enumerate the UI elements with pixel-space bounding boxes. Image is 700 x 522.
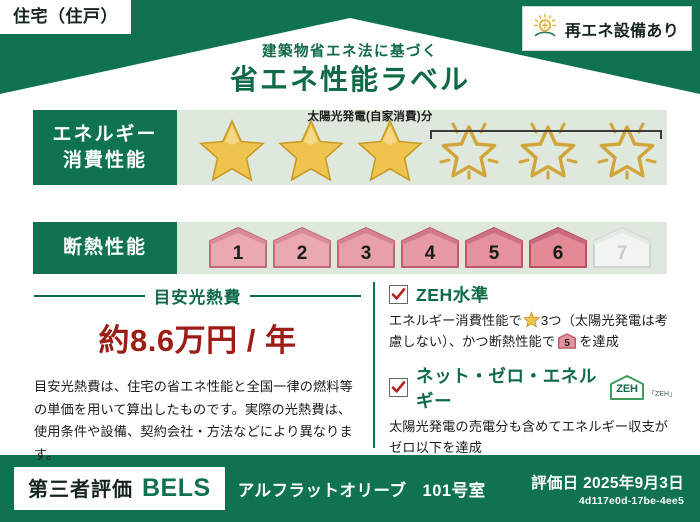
utility-cost-note: 目安光熱費は、住宅の省エネ性能と全国一律の燃料等の単価を用いて算出したものです。… — [34, 376, 361, 467]
insulation-performance-row: 断熱性能 1 2 — [33, 222, 667, 274]
inline-star-icon — [523, 311, 540, 328]
star-filled-1 — [195, 115, 269, 181]
page-title: 省エネ性能ラベル — [0, 64, 700, 96]
insulation-performance-label: 断熱性能 — [33, 222, 177, 274]
net-zero-title: ネット・ゼロ・エネルギー — [416, 363, 597, 413]
utility-cost-column: 目安光熱費 約8.6万円 / 年 目安光熱費は、住宅の省エネ性能と全国一律の燃料… — [18, 282, 373, 448]
inline-house-5-icon: 5 — [557, 333, 577, 349]
evaluation-id: 4d117e0d-17be-4ee5 — [531, 495, 684, 507]
renewable-badge-label: 再エネ設備あり — [565, 17, 679, 41]
checkbox-checked-icon — [389, 285, 408, 304]
house-level-5: 5 — [463, 226, 525, 270]
star-filled-3 — [353, 115, 427, 181]
house-level-1: 1 — [207, 226, 269, 270]
net-zero-description: 太陽光発電の売電分も含めてエネルギー収支がゼロ以下を達成 — [389, 416, 676, 459]
sun-icon — [532, 13, 558, 44]
label-header: 建築物省エネ法に基づく 省エネ性能ラベル — [0, 44, 700, 97]
house-level-6: 6 — [527, 226, 589, 270]
star-filled-2 — [274, 115, 348, 181]
rule-left — [34, 295, 145, 297]
bels-logo-text: BELS — [142, 474, 211, 503]
building-name: アルフラットオリーブ — [238, 477, 407, 501]
utility-cost-heading: 目安光熱費 — [34, 284, 361, 308]
third-party-label: 第三者評価 — [28, 473, 133, 502]
house-level-2: 2 — [271, 226, 333, 270]
achievement-net-zero-energy: ネット・ゼロ・エネルギー ZEH 「ZEH」 太陽光発電の売電分も含めてエネルギ… — [389, 363, 676, 459]
zeh-logo-caption: 「ZEH」 — [648, 389, 676, 401]
renewable-equipment-badge: 再エネ設備あり — [522, 6, 692, 51]
house-level-7: 7 — [591, 226, 653, 270]
solar-caption: 太陽光発電(自家消費)分 — [240, 108, 500, 124]
rule-right — [250, 295, 361, 297]
building-type-badge: 住宅（住戸） — [0, 0, 131, 34]
energy-performance-label: エネルギー 消費性能 — [33, 110, 177, 185]
zeh-house-icon: ZEH — [608, 374, 646, 401]
footer-meta: 評価日 2025年9月3日 4d117e0d-17be-4ee5 — [531, 471, 684, 507]
house-scale: 1 2 3 — [177, 226, 653, 270]
zeh-logo: ZEH 「ZEH」 — [608, 374, 676, 401]
utility-cost-value: 約8.6万円 / 年 — [34, 315, 361, 360]
room-number: 101号室 — [423, 477, 486, 501]
bels-badge: 第三者評価 BELS — [14, 467, 225, 510]
house-level-4: 4 — [399, 226, 461, 270]
insulation-levels: 1 2 3 — [177, 222, 667, 274]
label-footer: 第三者評価 BELS アルフラットオリーブ 101号室 評価日 2025年9月3… — [0, 455, 700, 522]
lower-section: 目安光熱費 約8.6万円 / 年 目安光熱費は、住宅の省エネ性能と全国一律の燃料… — [18, 282, 682, 448]
checkbox-checked-icon — [389, 378, 408, 397]
net-zero-heading: ネット・ゼロ・エネルギー ZEH 「ZEH」 — [389, 363, 676, 413]
zeh-standard-heading: ZEH水準 — [389, 282, 676, 307]
evaluation-date: 評価日 2025年9月3日 — [531, 471, 684, 493]
energy-performance-label: 住宅（住戸） 再エネ設備あり 建築物省エ — [0, 0, 700, 522]
zeh-standard-description: エネルギー消費性能で3つ（太陽光発電は考慮しない）、かつ断熱性能で5を達成 — [389, 310, 676, 353]
zeh-standard-title: ZEH水準 — [416, 282, 489, 307]
house-level-3: 3 — [335, 226, 397, 270]
achievement-zeh-standard: ZEH水準 エネルギー消費性能で3つ（太陽光発電は考慮しない）、かつ断熱性能で5… — [389, 282, 676, 353]
achievements-column: ZEH水準 エネルギー消費性能で3つ（太陽光発電は考慮しない）、かつ断熱性能で5… — [373, 282, 682, 448]
